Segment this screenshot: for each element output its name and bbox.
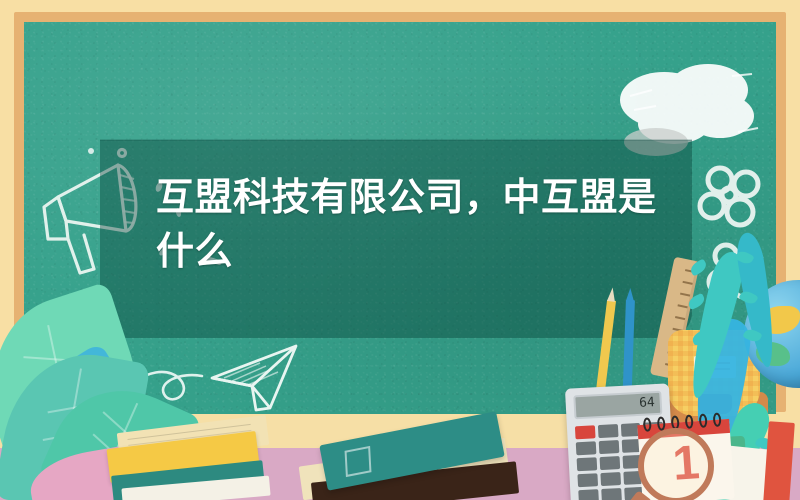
cover-canvas: 互盟科技有限公司，中互盟是什么 64 <box>0 0 800 500</box>
calculator-key <box>601 488 621 500</box>
red-book-right <box>763 421 795 500</box>
calculator-display: 64 <box>573 391 662 420</box>
calculator-key <box>599 456 619 470</box>
calculator-key <box>600 472 620 486</box>
calculator-key <box>577 457 597 471</box>
calculator-key <box>598 424 618 438</box>
chalk-dot <box>88 148 94 154</box>
page-title: 互盟科技有限公司，中互盟是什么 <box>156 172 666 280</box>
calculator-key <box>575 425 595 439</box>
book-cover-plate <box>345 446 372 477</box>
calculator-key <box>577 473 597 487</box>
calculator-key <box>598 440 618 454</box>
calculator-key <box>578 489 598 500</box>
magnifying-glass <box>638 428 714 500</box>
calculator-key <box>576 441 596 455</box>
